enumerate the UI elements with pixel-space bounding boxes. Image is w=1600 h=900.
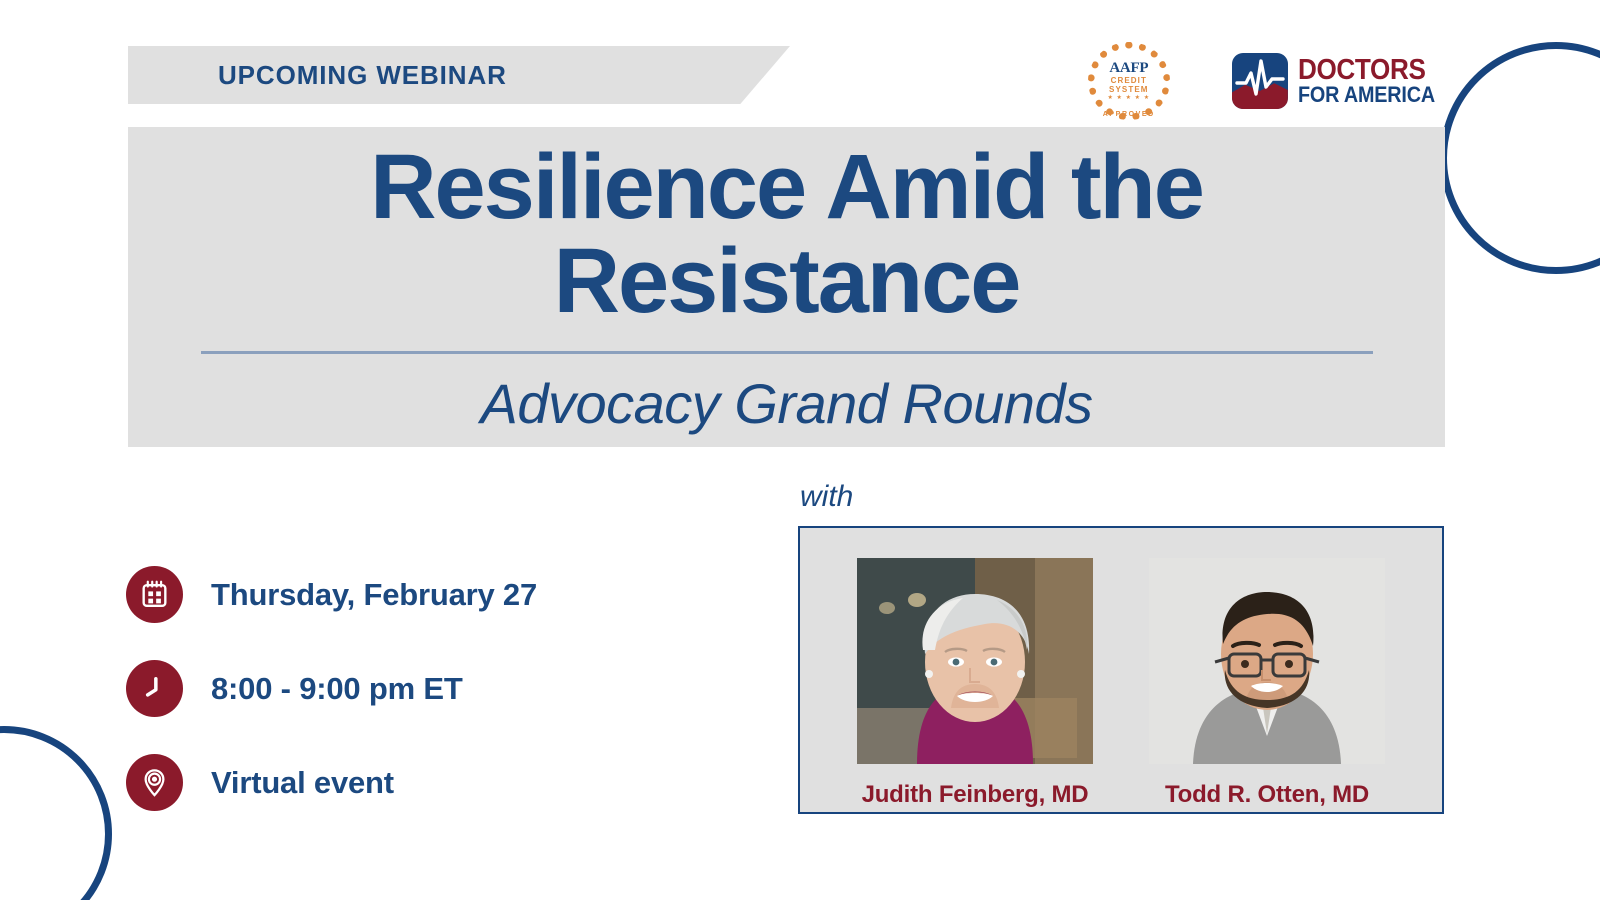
doctors-for-america-logo: DOCTORS FOR AMERICA <box>1232 53 1450 109</box>
title-divider <box>201 351 1373 354</box>
aafp-seal-text: AAFP CREDIT SYSTEM ★ ★ ★ ★ ★ <box>1097 51 1161 111</box>
headshot-todd-otten <box>1149 558 1385 764</box>
ekg-heartbeat-icon <box>1232 53 1288 109</box>
title-panel: Resilience Amid the Resistance Advocacy … <box>128 127 1445 447</box>
aafp-system-label: SYSTEM <box>1109 86 1149 94</box>
page-title: Resilience Amid the Resistance <box>197 141 1377 329</box>
speakers-panel: Judith Feinberg, MD <box>798 526 1444 814</box>
doctors-for-america-ekg-mark <box>1232 53 1288 109</box>
detail-time-text: 8:00 - 9:00 pm ET <box>211 671 463 707</box>
headshot-judith-feinberg <box>857 558 1093 764</box>
upcoming-webinar-banner: UPCOMING WEBINAR <box>128 46 790 104</box>
banner-label: UPCOMING WEBINAR <box>218 60 507 91</box>
aafp-stars: ★ ★ ★ ★ ★ <box>1108 95 1151 101</box>
logo-row: AAFP CREDIT SYSTEM ★ ★ ★ ★ ★ APPROVED DO… <box>1088 42 1450 120</box>
aafp-name: AAFP <box>1109 61 1148 76</box>
aafp-credit-label: CREDIT <box>1111 77 1147 85</box>
dfa-for-america-text: FOR AMERICA <box>1298 84 1435 106</box>
aafp-approved-label: APPROVED <box>1088 111 1170 118</box>
dfa-doctors-text: DOCTORS <box>1298 56 1435 84</box>
page-subtitle: Advocacy Grand Rounds <box>480 371 1092 436</box>
decorative-circle-bottom-left <box>0 726 112 900</box>
location-pin-icon <box>126 754 183 811</box>
detail-location-text: Virtual event <box>211 765 394 801</box>
dfa-wordmark: DOCTORS FOR AMERICA <box>1298 56 1450 106</box>
speaker-card: Judith Feinberg, MD <box>857 558 1093 809</box>
detail-row-location: Virtual event <box>126 754 537 811</box>
clock-icon <box>126 660 183 717</box>
event-details-list: Thursday, February 27 8:00 - 9:00 pm ET … <box>126 566 537 811</box>
speaker-name: Todd R. Otten, MD <box>1165 781 1369 809</box>
detail-row-date: Thursday, February 27 <box>126 566 537 623</box>
aafp-credit-system-approved-seal: AAFP CREDIT SYSTEM ★ ★ ★ ★ ★ APPROVED <box>1088 42 1170 120</box>
with-label: with <box>800 480 853 514</box>
decorative-circle-top-right <box>1440 42 1600 274</box>
calendar-icon <box>126 566 183 623</box>
webinar-promo-graphic: UPCOMING WEBINAR AAFP CREDIT SYSTEM ★ ★ … <box>0 0 1600 900</box>
detail-row-time: 8:00 - 9:00 pm ET <box>126 660 537 717</box>
detail-date-text: Thursday, February 27 <box>211 577 537 613</box>
speaker-name: Judith Feinberg, MD <box>862 781 1089 809</box>
speaker-card: Todd R. Otten, MD <box>1149 558 1385 809</box>
